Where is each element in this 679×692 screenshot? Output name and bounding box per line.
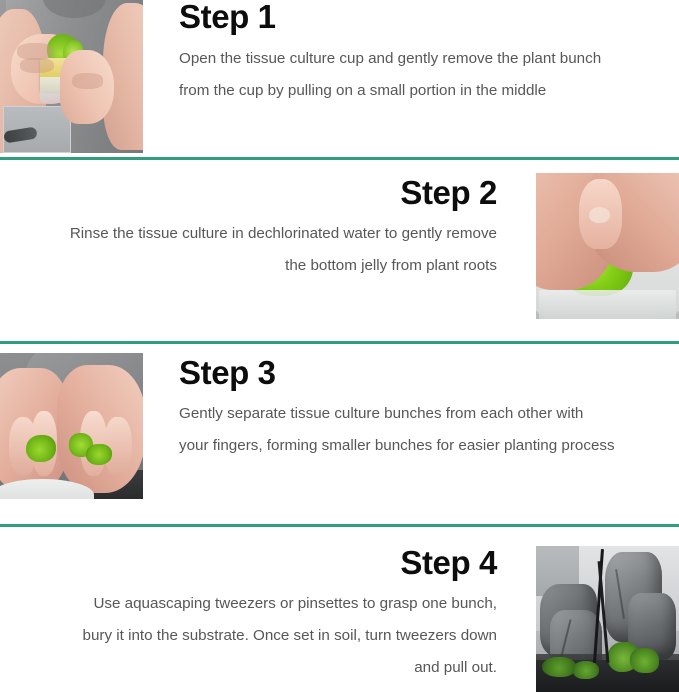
step-4-body: Use aquascaping tweezers or pinsettes to…: [60, 580, 497, 685]
step-4-text-column: Step 4 Use aquascaping tweezers or pinse…: [0, 527, 536, 684]
step-1-image: [0, 0, 143, 153]
step-4-title: Step 4: [400, 527, 497, 580]
step-2-image: [536, 173, 679, 319]
step-3-image: [0, 353, 143, 499]
photo-separating-bunches: [0, 353, 143, 499]
step-1-title: Step 1: [179, 0, 276, 34]
steps-infographic: Step 1 Open the tissue culture cup and g…: [0, 0, 679, 683]
step-section-1: Step 1 Open the tissue culture cup and g…: [0, 0, 679, 157]
photo-aquascape-substrate: [536, 546, 679, 692]
step-section-3: Step 3 Gently separate tissue culture bu…: [0, 344, 679, 524]
step-section-2: Step 2 Rinse the tissue culture in dechl…: [0, 160, 679, 341]
step-section-4: Step 4 Use aquascaping tweezers or pinse…: [0, 527, 679, 692]
step-1-body: Open the tissue culture cup and gently r…: [179, 34, 617, 107]
photo-hands-opening-cup: [0, 0, 143, 153]
step-1-text-column: Step 1 Open the tissue culture cup and g…: [143, 0, 679, 107]
step-4-image: [536, 546, 679, 692]
step-3-body: Gently separate tissue culture bunches f…: [179, 390, 617, 462]
step-3-text-column: Step 3 Gently separate tissue culture bu…: [143, 344, 679, 462]
photo-rinsing-plant: [536, 173, 679, 319]
step-2-body: Rinse the tissue culture in dechlorinate…: [60, 210, 497, 282]
step-2-title: Step 2: [400, 160, 497, 210]
step-3-title: Step 3: [179, 344, 276, 390]
step-2-text-column: Step 2 Rinse the tissue culture in dechl…: [0, 160, 536, 282]
